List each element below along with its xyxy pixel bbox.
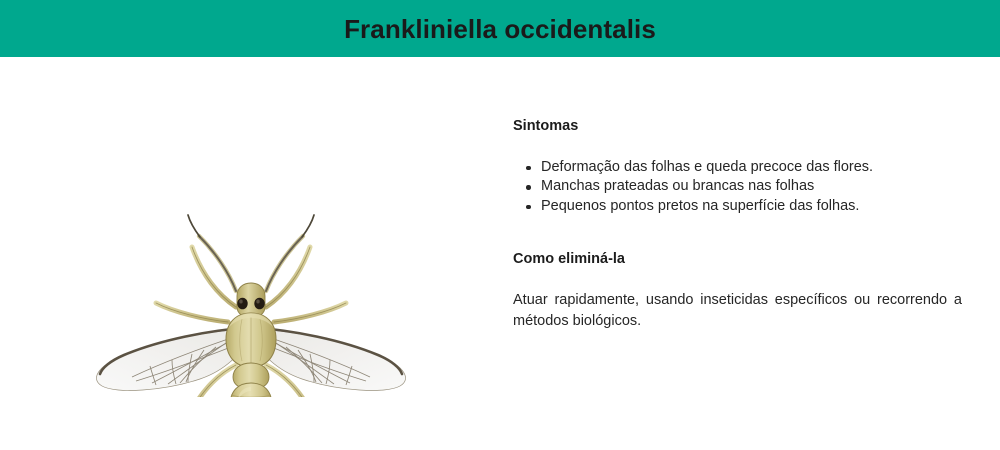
list-item: Manchas prateadas ou brancas nas folhas	[513, 177, 963, 197]
header-band: Frankliniella occidentalis	[0, 0, 1000, 57]
list-item-label: Manchas prateadas ou brancas nas folhas	[541, 178, 814, 194]
bullet-icon	[526, 166, 531, 171]
card-body: Sintomas Deformação das folhas e queda p…	[0, 57, 1000, 450]
page-title: Frankliniella occidentalis	[344, 16, 656, 42]
bullet-icon	[526, 185, 531, 190]
left-wing	[96, 328, 248, 390]
list-item-label: Deformação das folhas e queda precoce da…	[541, 159, 873, 175]
right-wing	[254, 328, 406, 390]
list-item-label: Pequenos pontos pretos na superfície das…	[541, 198, 859, 214]
text-content: Sintomas Deformação das folhas e queda p…	[513, 117, 963, 332]
thrips-illustration	[40, 107, 480, 397]
thrips-svg	[40, 107, 480, 397]
thorax	[226, 313, 276, 367]
right-eye	[254, 298, 264, 310]
treatment-paragraph: Atuar rapidamente, usando inseticidas es…	[513, 290, 962, 332]
symptoms-list: Deformação das folhas e queda precoce da…	[513, 158, 963, 217]
list-item: Deformação das folhas e queda precoce da…	[513, 158, 963, 178]
treatment-heading: Como eliminá-la	[513, 250, 963, 269]
symptoms-heading: Sintomas	[513, 117, 963, 136]
pest-info-card: Frankliniella occidentalis	[0, 0, 1000, 450]
left-eye	[237, 298, 247, 310]
list-item: Pequenos pontos pretos na superfície das…	[513, 197, 963, 217]
bullet-icon	[526, 205, 531, 210]
